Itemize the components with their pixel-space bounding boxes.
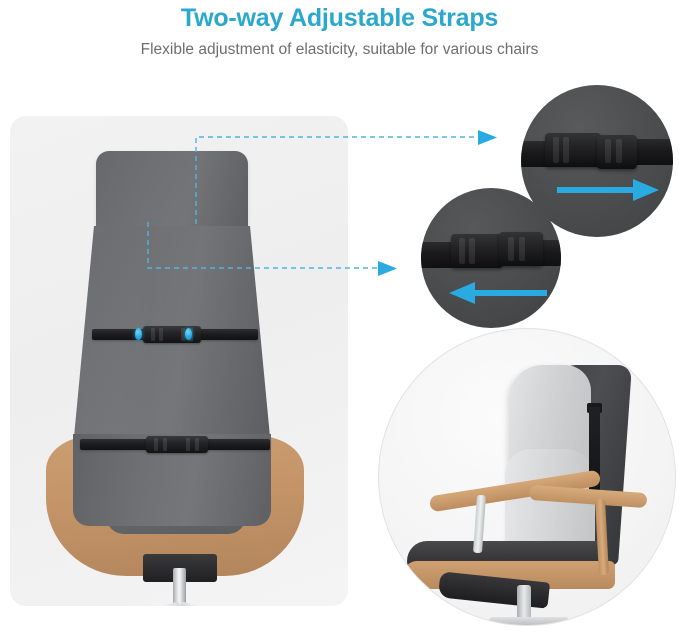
buckle-rib [519,237,525,261]
inset-strap-right [631,139,673,165]
buckle-rib [186,438,190,451]
buckle-rib [563,137,569,163]
base-spoke [179,601,241,606]
buckle-rib [154,438,158,451]
buckle-rib [616,139,622,163]
lower-strap-buckle [146,436,208,453]
page-subtitle: Flexible adjustment of elasticity, suita… [0,34,679,60]
header: Two-way Adjustable Straps Flexible adjus… [0,0,679,60]
strap-adjust-point-left-icon [135,328,142,340]
inset-buckle-catch [597,135,637,169]
inset-buckle-body [451,234,503,268]
arrow-right-icon [555,177,665,203]
strap-adjust-point-right-icon [185,328,192,340]
side-chair-base-arm [489,617,569,626]
upper-strap-buckle [143,326,201,343]
chair-rear-view [10,116,348,606]
buckle-rib [195,438,199,451]
chair-base [36,602,324,606]
inset-buckle-catch [499,232,543,266]
chair-gas-lift [173,568,186,606]
side-chair-gas-lift [517,585,531,621]
buckle-rib [553,137,559,163]
page-title: Two-way Adjustable Straps [0,0,679,34]
buckle-rib [163,438,167,451]
buckle-rib [605,139,611,163]
buckle-rib [469,238,475,264]
arrow-left-icon [443,280,553,306]
buckle-rib [508,237,514,261]
inset-buckle-body [545,133,601,167]
inset-chair-side-view [378,328,676,626]
inset-strap-loosen-detail [421,188,561,328]
main-chair-panel [10,116,348,606]
buckle-rib [159,328,163,341]
buckle-rib [459,238,465,264]
base-spoke [119,601,181,606]
buckle-rib [151,328,155,341]
